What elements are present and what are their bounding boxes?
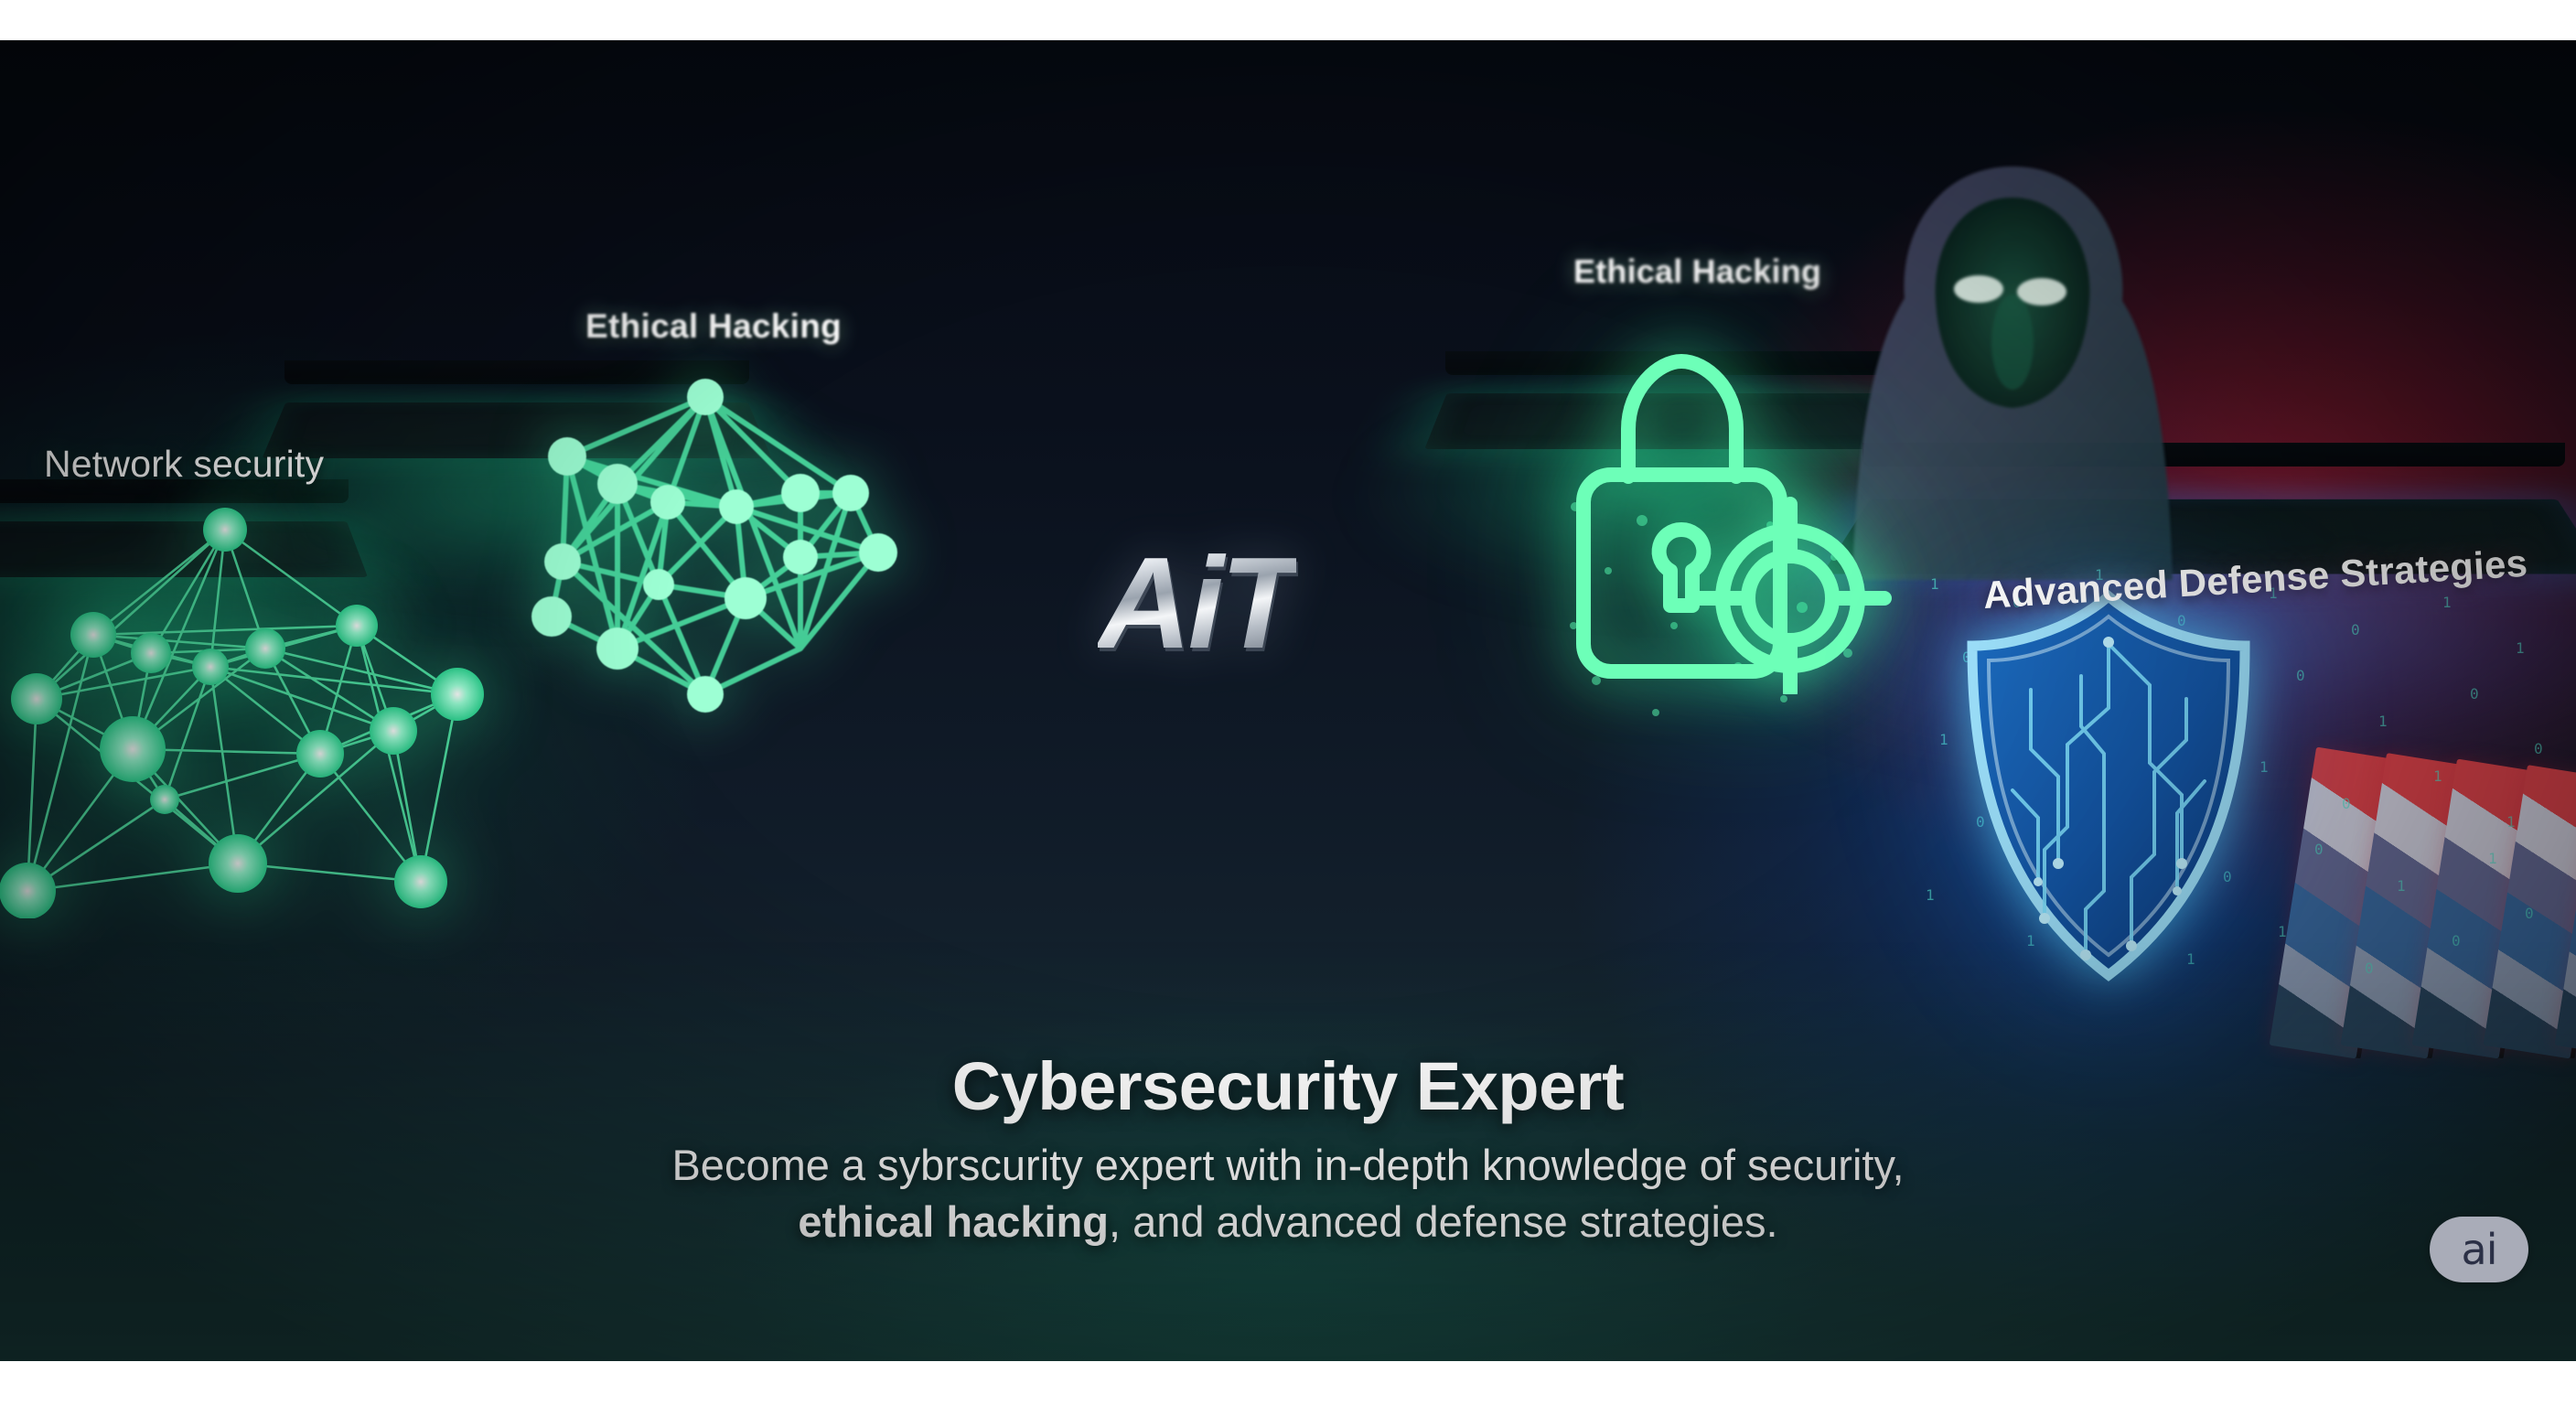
network-graph-icon (0, 479, 503, 918)
ai-watermark-badge: ai (2430, 1217, 2528, 1282)
subtitle-part-1: Become a sybrscurity expert with in-dept… (671, 1141, 1904, 1189)
label-ethical-hacking-left: Ethical Hacking (585, 307, 842, 346)
padlock-target-icon (1551, 338, 1916, 694)
subtitle-emphasis: ethical hacking (798, 1197, 1109, 1246)
headline-block: Cybersecurity Expert Become a sybrscurit… (0, 1051, 2576, 1249)
letterbox-top (0, 0, 2576, 40)
domino-row-icon (2269, 681, 2576, 1065)
hero-scene: 1010 1011 0110 1010 1101 1010 1010 1010 … (0, 40, 2576, 1361)
mesh-graph-icon (526, 356, 919, 726)
label-network-security: Network security (44, 443, 324, 486)
circuit-shield-icon (1958, 589, 2259, 982)
ai-watermark-label: ai (2462, 1228, 2497, 1271)
page-subtitle: Become a sybrscurity expert with in-dept… (0, 1137, 2576, 1249)
page-title: Cybersecurity Expert (0, 1051, 2576, 1122)
ait-logo: AiT (1098, 539, 1296, 669)
subtitle-part-2: , and advanced defense strategies. (1109, 1197, 1778, 1246)
letterbox-bottom (0, 1361, 2576, 1405)
banner-canvas: 1010 1011 0110 1010 1101 1010 1010 1010 … (0, 0, 2576, 1405)
label-ethical-hacking-right: Ethical Hacking (1573, 252, 1821, 291)
svg-text:1: 1 (1926, 886, 1935, 904)
